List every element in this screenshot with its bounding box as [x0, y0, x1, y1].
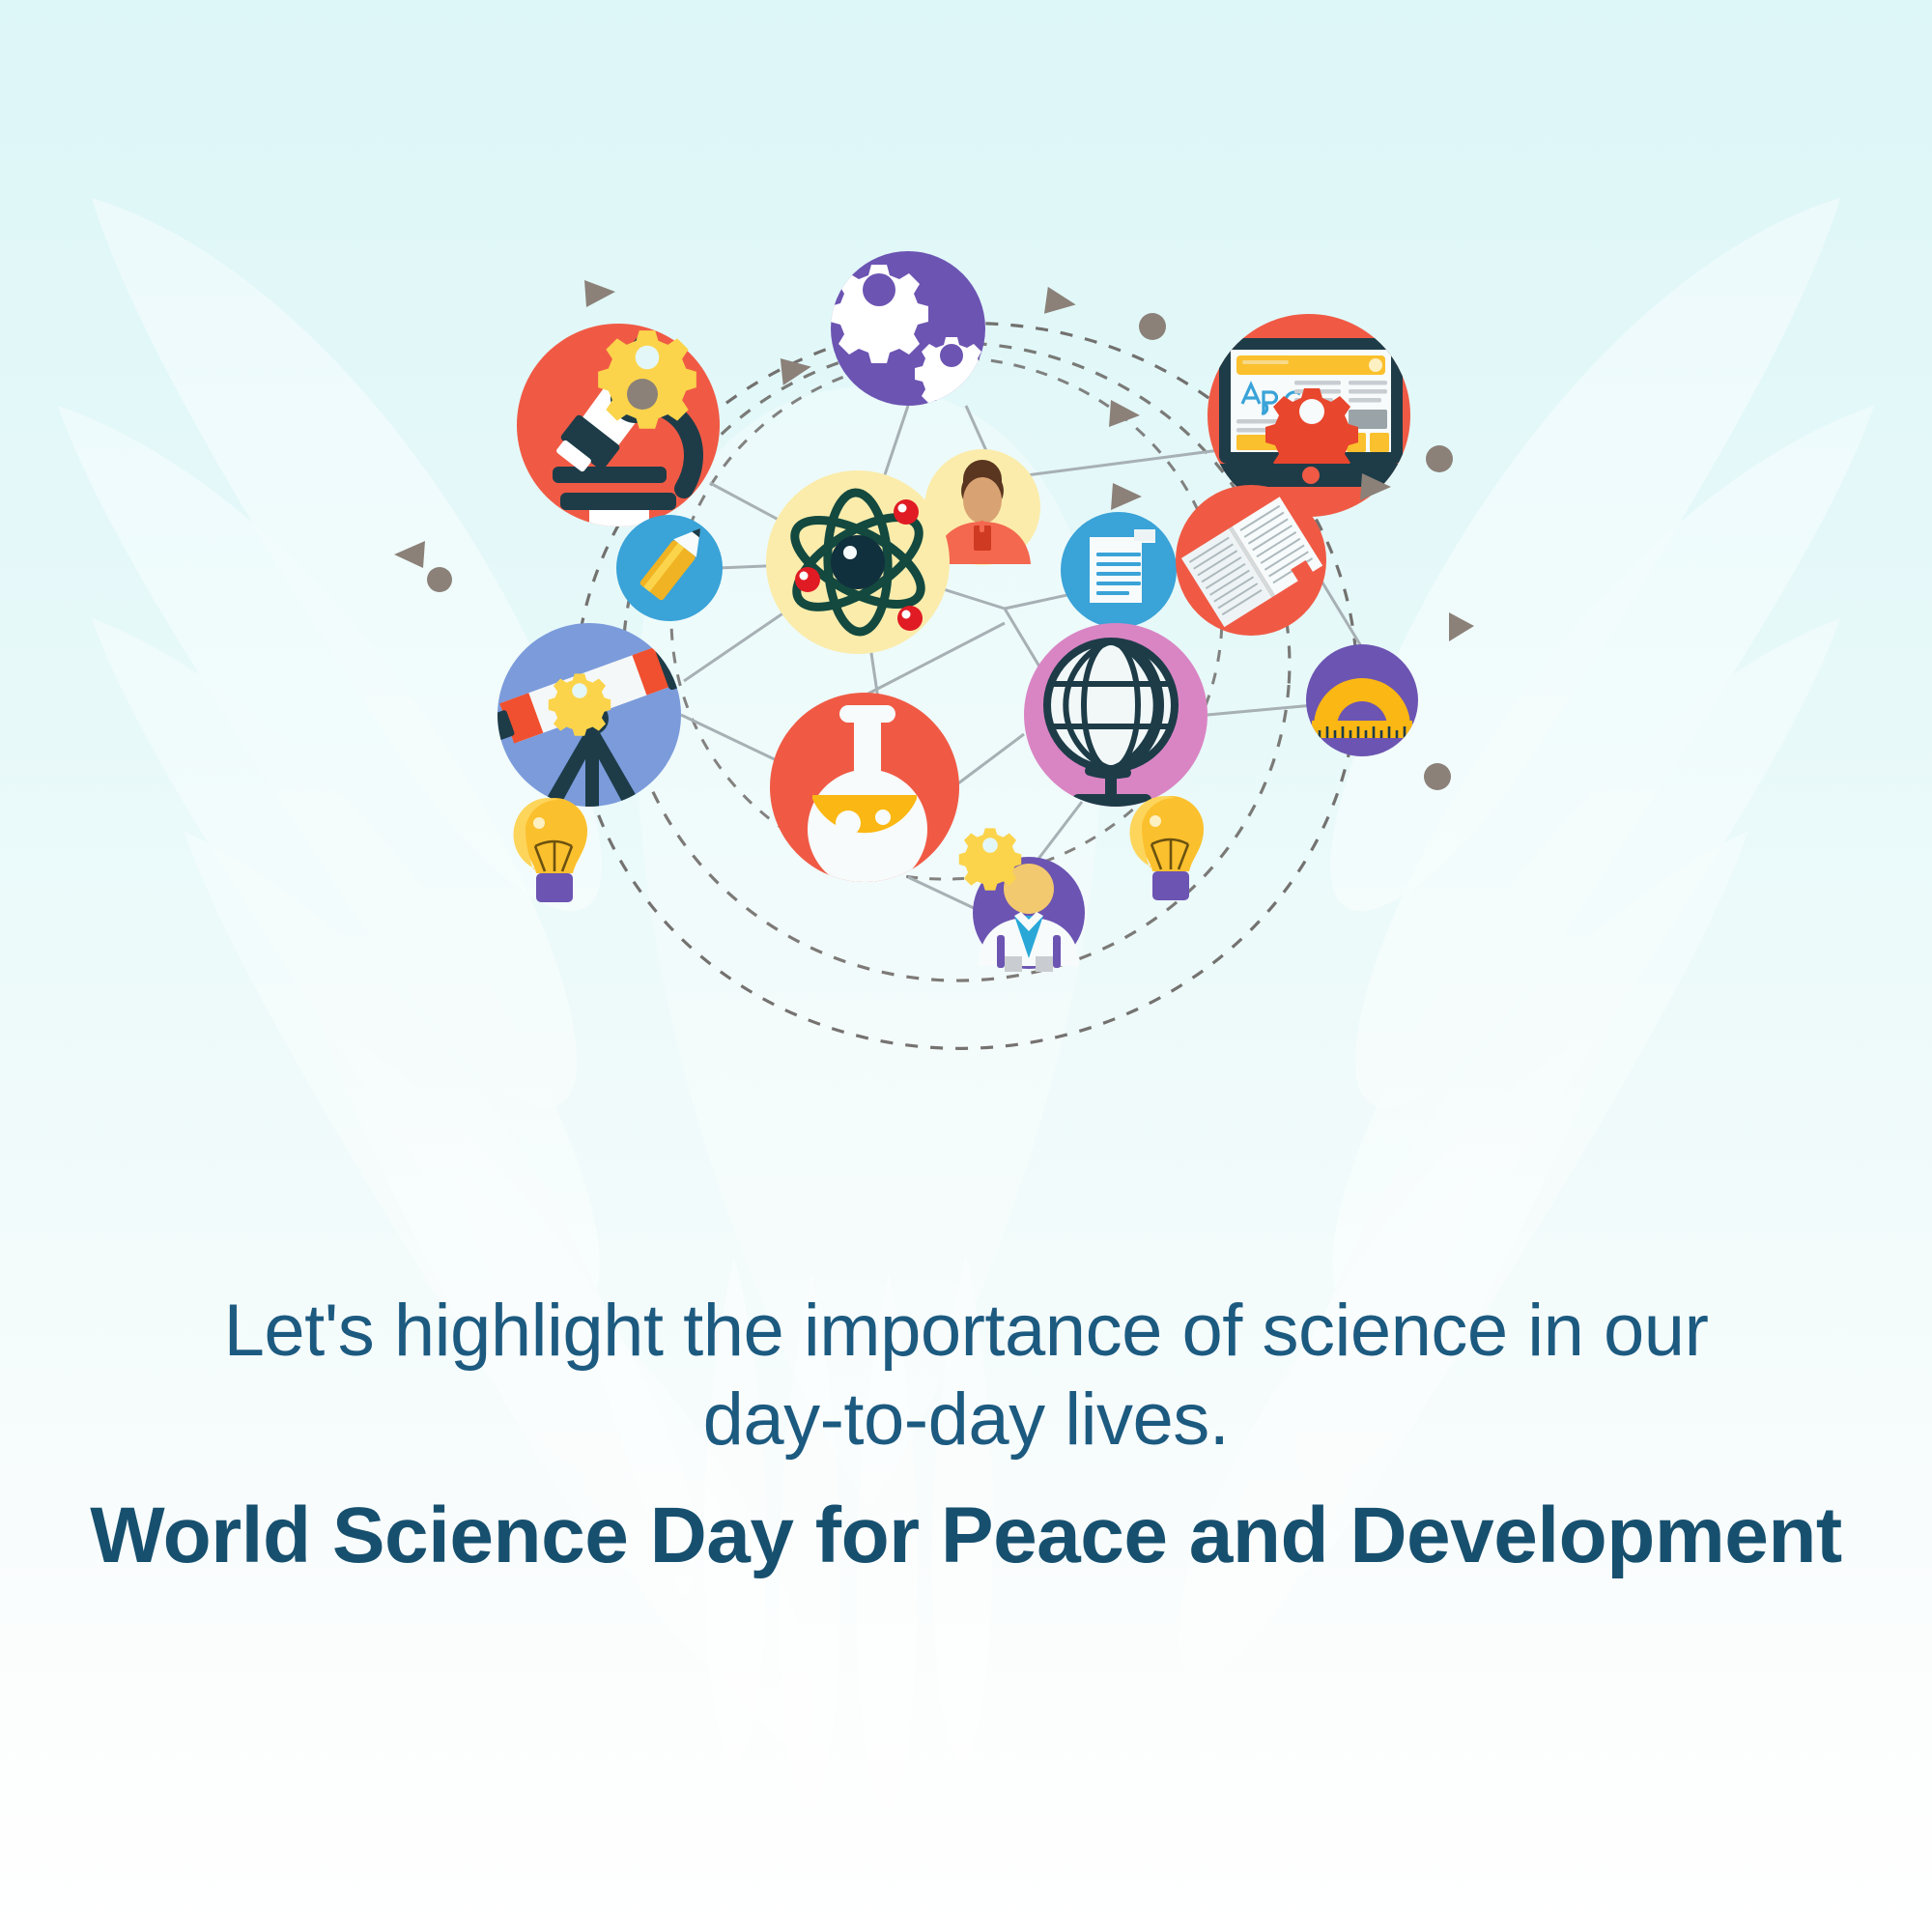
node-pencil[interactable] — [616, 515, 723, 621]
lightbulb-right — [1130, 796, 1204, 900]
gear-small-3 — [959, 828, 1021, 890]
caption-line-2: day-to-day lives. — [0, 1376, 1932, 1464]
caption-line-1: Let's highlight the importance of scienc… — [0, 1287, 1932, 1376]
lightbulb-left — [514, 798, 587, 902]
node-flask[interactable] — [770, 693, 959, 889]
node-protractor[interactable] — [1306, 644, 1418, 756]
screen-header-bar — [1236, 355, 1385, 375]
page-title: World Science Day for Peace and Developm… — [0, 1478, 1932, 1594]
node-document[interactable] — [1061, 512, 1177, 628]
poster: Let's highlight the importance of scienc… — [0, 0, 1932, 1932]
science-network-illustration — [464, 280, 1468, 1285]
laptop-icon — [1180, 338, 1441, 487]
node-globe[interactable] — [1024, 623, 1207, 811]
caption-block: Let's highlight the importance of scienc… — [0, 1287, 1932, 1594]
node-laptop[interactable] — [1180, 314, 1441, 517]
gear-small-2 — [549, 673, 611, 735]
node-atom[interactable] — [766, 470, 950, 654]
